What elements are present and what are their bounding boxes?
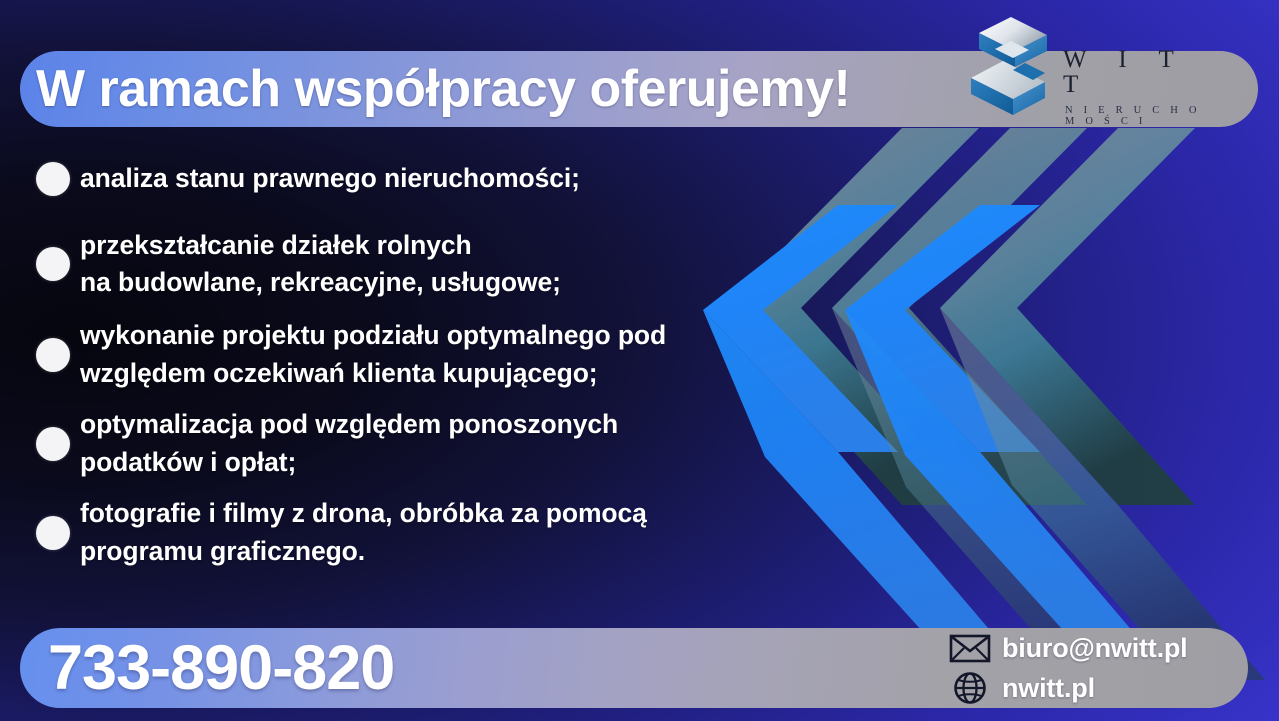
list-item-line: podatków i opłat;	[80, 444, 618, 482]
logo-wordmark: W I T T N I E R U C H O M O Ś C I	[1063, 5, 1203, 127]
list-item-text: optymalizacja pod względem ponoszonych p…	[80, 406, 618, 481]
envelope-icon	[948, 633, 992, 663]
list-item-line: na budowlane, rekreacyjne, usługowe;	[80, 264, 561, 302]
bullet-dot-icon	[36, 162, 70, 196]
marketing-slide: W ramach współpracy oferujemy!	[0, 0, 1279, 721]
contact-email-row[interactable]: biuro@nwitt.pl	[948, 630, 1188, 666]
services-list: analiza stanu prawnego nieruchomości; pr…	[36, 160, 816, 571]
list-item-text: przekształcanie działek rolnych na budow…	[80, 227, 561, 302]
list-item: przekształcanie działek rolnych na budow…	[36, 227, 816, 302]
company-logo: W I T T N I E R U C H O M O Ś C I	[963, 10, 1203, 122]
list-item: wykonanie projektu podziału optymalnego …	[36, 317, 816, 392]
list-item-line: fotografie i filmy z drona, obróbka za p…	[80, 495, 647, 533]
list-item: analiza stanu prawnego nieruchomości;	[36, 160, 816, 198]
list-item-line: analiza stanu prawnego nieruchomości;	[80, 160, 580, 198]
page-title: W ramach współpracy oferujemy!	[36, 52, 976, 126]
bullet-dot-icon	[36, 247, 70, 281]
bullet-dot-icon	[36, 516, 70, 550]
bullet-dot-icon	[36, 427, 70, 461]
isometric-blocks-logo-icon	[963, 11, 1059, 121]
list-item-text: analiza stanu prawnego nieruchomości;	[80, 160, 580, 198]
logo-name: W I T T	[1063, 47, 1203, 97]
list-item: optymalizacja pod względem ponoszonych p…	[36, 406, 816, 481]
list-item-text: wykonanie projektu podziału optymalnego …	[80, 317, 666, 392]
list-item-line: wykonanie projektu podziału optymalnego …	[80, 317, 666, 355]
list-item-line: przekształcanie działek rolnych	[80, 227, 561, 265]
list-item: fotografie i filmy z drona, obróbka za p…	[36, 495, 816, 570]
globe-icon	[948, 673, 992, 703]
contact-block: biuro@nwitt.pl nwitt.pl	[948, 624, 1188, 712]
logo-subtitle: N I E R U C H O M O Ś C I	[1065, 106, 1203, 127]
contact-website-row[interactable]: nwitt.pl	[948, 670, 1188, 706]
phone-number[interactable]: 733-890-820	[48, 628, 394, 708]
email-address: biuro@nwitt.pl	[1002, 633, 1188, 664]
list-item-line: programu graficznego.	[80, 533, 647, 571]
website-address: nwitt.pl	[1002, 673, 1095, 704]
list-item-line: optymalizacja pod względem ponoszonych	[80, 406, 618, 444]
bullet-dot-icon	[36, 338, 70, 372]
list-item-line: względem oczekiwań klienta kupującego;	[80, 355, 666, 393]
list-item-text: fotografie i filmy z drona, obróbka za p…	[80, 495, 647, 570]
